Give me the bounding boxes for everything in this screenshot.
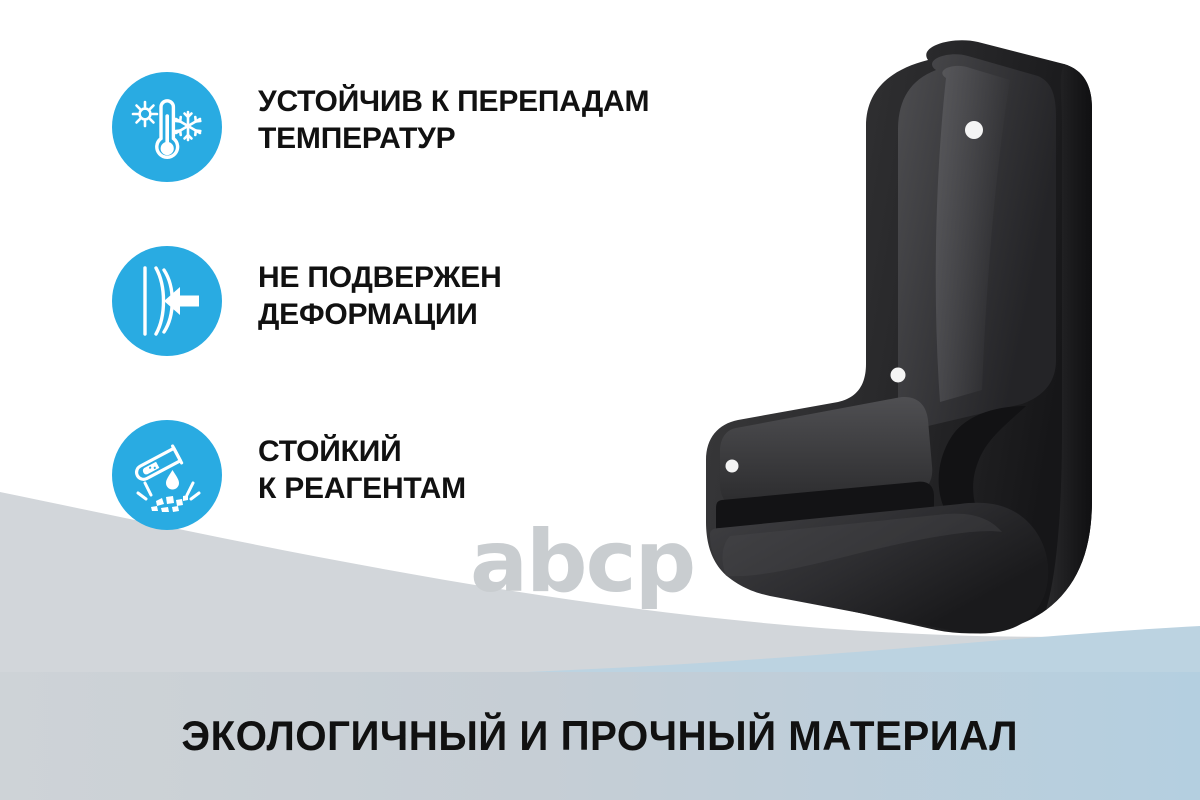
deformation-arrow-icon (128, 262, 206, 340)
feature-label-temperature: УСТОЙЧИВ К ПЕРЕПАДАМ ТЕМПЕРАТУР (258, 72, 649, 157)
feature-line: ТЕМПЕРАТУР (258, 121, 649, 158)
feature-line: ДЕФОРМАЦИИ (258, 297, 502, 334)
mud-flap-body (706, 40, 1092, 633)
arrow-left-glyph (164, 287, 199, 315)
banner-title: ЭКОЛОГИЧНЫЙ И ПРОЧНЫЙ МАТЕРИАЛ (182, 712, 1019, 760)
bottom-banner: ЭКОЛОГИЧНЫЙ И ПРОЧНЫЙ МАТЕРИАЛ (0, 672, 1200, 800)
thermometer-sun-snowflake-icon (128, 88, 206, 166)
temperature-resistance-icon (112, 72, 222, 182)
feature-line: НЕ ПОДВЕРЖЕН (258, 260, 502, 297)
flask-drip-splash-icon (127, 435, 207, 515)
infographic-canvas: УСТОЙЧИВ К ПЕРЕПАДАМ ТЕМПЕРАТУР (0, 0, 1200, 800)
feature-item-temperature: УСТОЙЧИВ К ПЕРЕПАДАМ ТЕМПЕРАТУР (112, 72, 672, 184)
mount-hole (891, 368, 906, 383)
feature-item-deformation: НЕ ПОДВЕРЖЕН ДЕФОРМАЦИИ (112, 246, 672, 358)
deformation-resistance-icon (112, 246, 222, 356)
chemical-resistance-icon (112, 420, 222, 530)
feature-label-reagents: СТОЙКИЙ К РЕАГЕНТАМ (258, 420, 466, 507)
feature-line: К РЕАГЕНТАМ (258, 471, 466, 508)
droplet-glyph (166, 470, 179, 490)
feature-line: УСТОЙЧИВ К ПЕРЕПАДАМ (258, 84, 649, 121)
product-mud-flap-image (660, 30, 1130, 650)
feature-line: СТОЙКИЙ (258, 434, 466, 471)
mount-hole (965, 121, 983, 139)
mount-hole (726, 460, 739, 473)
feature-label-deformation: НЕ ПОДВЕРЖЕН ДЕФОРМАЦИИ (258, 246, 502, 333)
